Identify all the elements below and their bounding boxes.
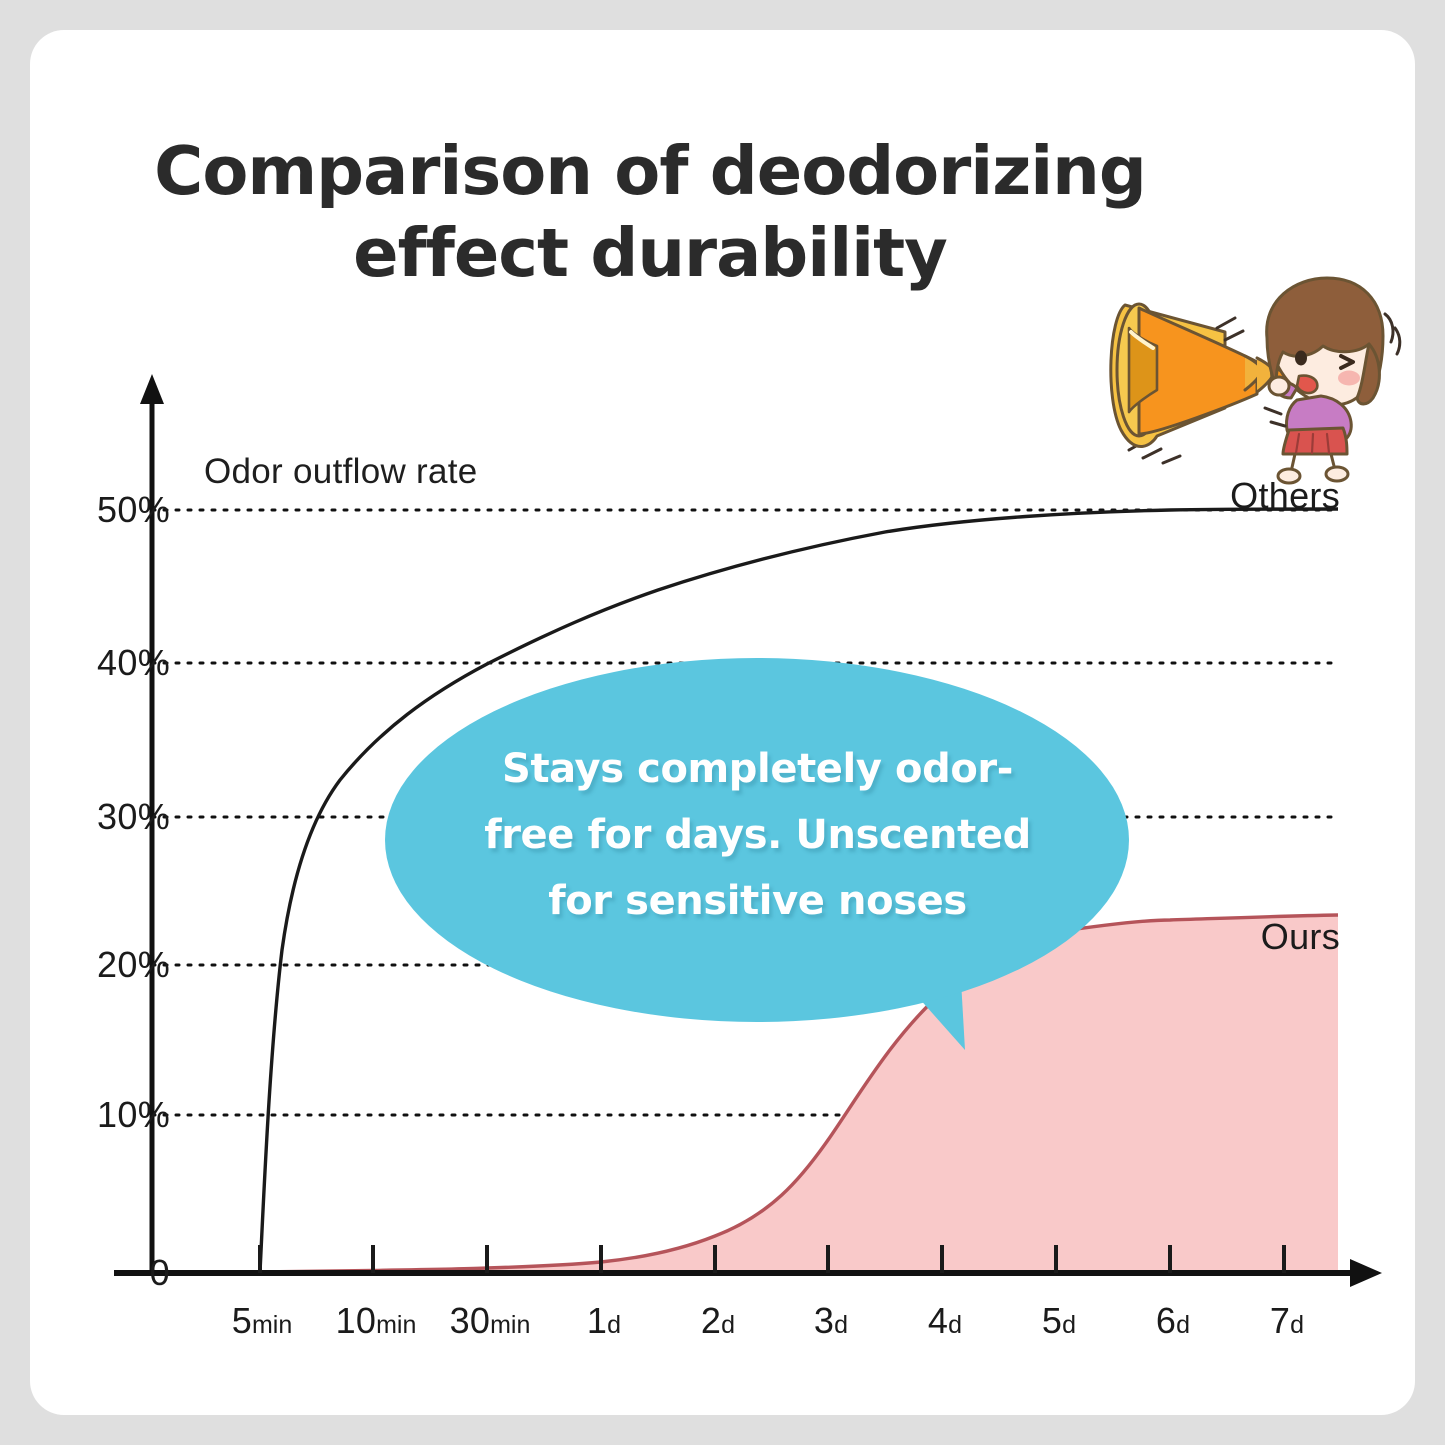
callout-text: Stays completely odor- free for days. Un… bbox=[445, 736, 1070, 934]
x-tick-value: 5 bbox=[1042, 1300, 1062, 1341]
series-label-ours: Ours bbox=[1261, 916, 1340, 958]
x-tick-value: 10 bbox=[336, 1300, 376, 1341]
x-tick-unit: d bbox=[948, 1311, 962, 1339]
x-tick-unit: d bbox=[721, 1311, 735, 1339]
x-tick-value: 1 bbox=[587, 1300, 607, 1341]
x-tick-5min: 5min bbox=[232, 1300, 293, 1342]
x-tick-unit: d bbox=[1290, 1311, 1304, 1339]
x-tick-5d: 5d bbox=[1042, 1300, 1076, 1342]
x-tick-value: 6 bbox=[1156, 1300, 1176, 1341]
x-tick-value: 7 bbox=[1270, 1300, 1290, 1341]
y-tick-50: 50% bbox=[60, 489, 170, 531]
x-tick-10min: 10min bbox=[336, 1300, 417, 1342]
x-tick-value: 4 bbox=[928, 1300, 948, 1341]
callout-line-2: free for days. Unscented bbox=[445, 802, 1070, 868]
y-tick-20: 20% bbox=[60, 944, 170, 986]
x-tick-7d: 7d bbox=[1270, 1300, 1304, 1342]
x-tick-2d: 2d bbox=[701, 1300, 735, 1342]
x-tick-unit: min bbox=[490, 1311, 530, 1339]
y-tick-40: 40% bbox=[60, 642, 170, 684]
x-tick-value: 3 bbox=[814, 1300, 834, 1341]
x-tick-30min: 30min bbox=[450, 1300, 531, 1342]
x-tick-value: 2 bbox=[701, 1300, 721, 1341]
x-tick-value: 5 bbox=[232, 1300, 252, 1341]
x-tick-3d: 3d bbox=[814, 1300, 848, 1342]
y-tick-labels: 50% 40% 30% 20% 10% 0 bbox=[30, 30, 170, 1415]
x-tick-unit: min bbox=[376, 1311, 416, 1339]
y-axis-title: Odor outflow rate bbox=[204, 452, 478, 492]
x-tick-1d: 1d bbox=[587, 1300, 621, 1342]
page-root: Comparison of deodorizing effect durabil… bbox=[0, 0, 1445, 1445]
x-tick-unit: d bbox=[1062, 1311, 1076, 1339]
callout-speech-bubble: Stays completely odor- free for days. Un… bbox=[385, 658, 1130, 1058]
y-tick-0: 0 bbox=[60, 1252, 170, 1294]
series-label-others: Others bbox=[1230, 475, 1340, 517]
callout-line-1: Stays completely odor- bbox=[445, 736, 1070, 802]
x-tick-unit: min bbox=[252, 1311, 292, 1339]
x-tick-unit: d bbox=[834, 1311, 848, 1339]
y-tick-30: 30% bbox=[60, 796, 170, 838]
x-tick-unit: d bbox=[1176, 1311, 1190, 1339]
x-tick-6d: 6d bbox=[1156, 1300, 1190, 1342]
y-tick-10: 10% bbox=[60, 1094, 170, 1136]
callout-line-3: for sensitive noses bbox=[445, 868, 1070, 934]
x-tick-4d: 4d bbox=[928, 1300, 962, 1342]
x-tick-unit: d bbox=[607, 1311, 621, 1339]
infographic-card: Comparison of deodorizing effect durabil… bbox=[30, 30, 1415, 1415]
x-tick-value: 30 bbox=[450, 1300, 490, 1341]
